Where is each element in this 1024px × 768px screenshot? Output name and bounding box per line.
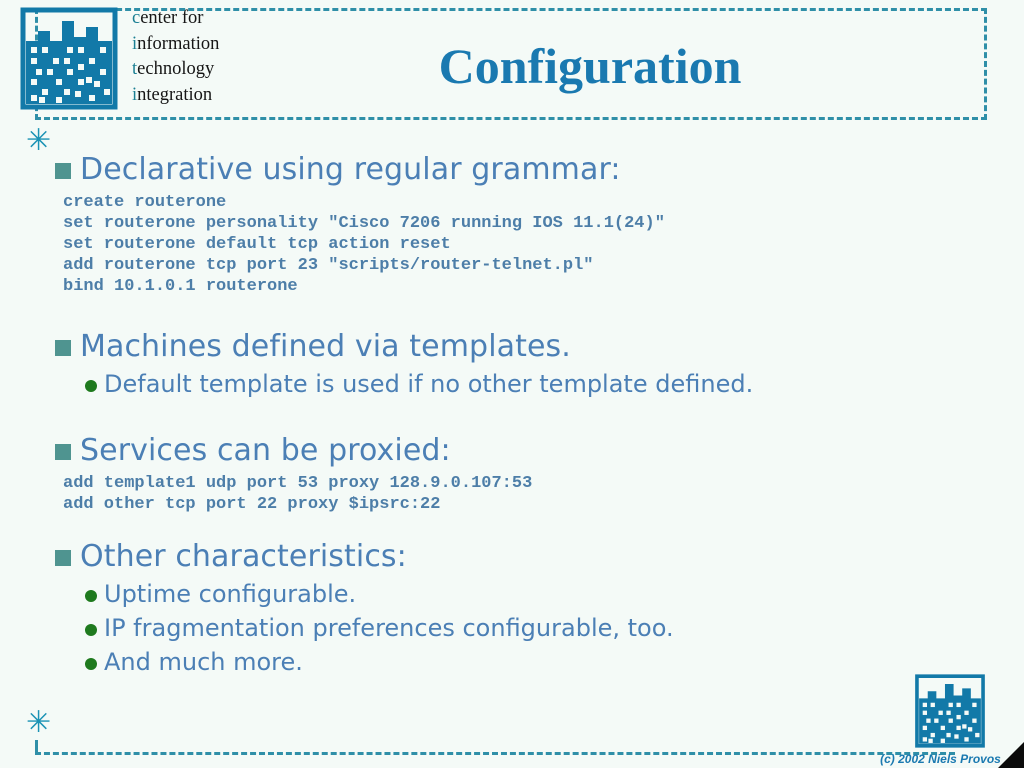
bullet-label: And much more. <box>104 645 303 679</box>
content-section: Other characteristics: Uptime configurab… <box>55 537 975 679</box>
slide: center for information technology integr… <box>0 0 1024 768</box>
content-section: Services can be proxied: add template1 u… <box>55 431 975 515</box>
round-bullet-icon <box>85 624 97 636</box>
bullet-label: Other characteristics: <box>80 537 407 577</box>
bullet-item-level1: Machines defined via templates. <box>55 327 975 367</box>
square-bullet-icon <box>55 340 71 356</box>
bullet-item-level1: Other characteristics: <box>55 537 975 577</box>
bullet-label: Uptime configurable. <box>104 577 356 611</box>
corner-wedge <box>998 742 1024 768</box>
copyright-notice: (c) 2002 Niels Provos <box>868 752 1013 766</box>
content-section: Declarative using regular grammar: creat… <box>55 150 975 297</box>
bullet-label: Default template is used if no other tem… <box>104 367 753 401</box>
bullet-label: Declarative using regular grammar: <box>80 150 621 190</box>
spacer <box>55 297 975 327</box>
square-bullet-icon <box>55 444 71 460</box>
asterisk-icon: ✳ <box>26 708 51 738</box>
spacer <box>55 401 975 431</box>
bullet-label: Machines defined via templates. <box>80 327 571 367</box>
bullet-item-level2: IP fragmentation preferences configurabl… <box>85 611 975 645</box>
bullet-item-level2: Default template is used if no other tem… <box>85 367 975 401</box>
bullet-item-level1: Declarative using regular grammar: <box>55 150 975 190</box>
page-title: Configuration <box>200 38 980 94</box>
citi-skyline-logo-icon <box>911 674 989 748</box>
code-block: add template1 udp port 53 proxy 128.9.0.… <box>63 473 975 515</box>
spacer <box>55 515 975 537</box>
content-section: Machines defined via templates. Default … <box>55 327 975 401</box>
asterisk-icon: ✳ <box>26 126 51 156</box>
brand-line: center for <box>132 6 219 32</box>
round-bullet-icon <box>85 590 97 602</box>
bullet-label: IP fragmentation preferences configurabl… <box>104 611 674 645</box>
brand-line-initial: c <box>132 8 140 28</box>
slide-content: Declarative using regular grammar: creat… <box>55 150 975 679</box>
brand-line-rest: enter for <box>140 8 203 28</box>
round-bullet-icon <box>85 658 97 670</box>
citi-skyline-logo-icon <box>20 7 118 110</box>
round-bullet-icon <box>85 380 97 392</box>
square-bullet-icon <box>55 550 71 566</box>
bullet-label: Services can be proxied: <box>80 431 451 471</box>
code-block: create routerone set routerone personali… <box>63 192 975 297</box>
square-bullet-icon <box>55 163 71 179</box>
bullet-item-level2: Uptime configurable. <box>85 577 975 611</box>
bullet-item-level1: Services can be proxied: <box>55 431 975 471</box>
footer-border <box>35 752 955 755</box>
bullet-item-level2: And much more. <box>85 645 975 679</box>
